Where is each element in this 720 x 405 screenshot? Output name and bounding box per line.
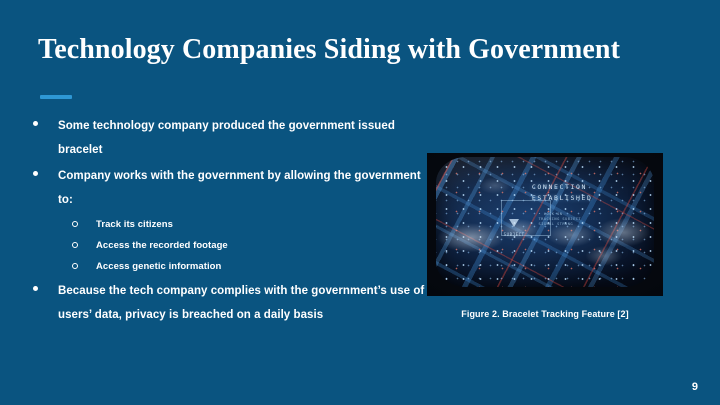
figure-caption: Figure 2. Bracelet Tracking Feature [2] xyxy=(427,308,663,321)
bullet-disc-icon xyxy=(33,121,38,126)
list-item: Access the recorded footage xyxy=(30,235,430,256)
hud-location-pin-icon xyxy=(509,219,519,227)
list-item: Track its citizens xyxy=(30,214,430,235)
list-item-text: Company works with the government by all… xyxy=(58,164,430,212)
figure-image: SUBJECT CONNECTION ESTABLISHED • LOCK ON… xyxy=(427,153,663,296)
bullet-list: Some technology company produced the gov… xyxy=(30,114,430,329)
page-title: Technology Companies Siding with Governm… xyxy=(38,33,678,67)
list-item-text: Access the recorded footage xyxy=(96,235,430,256)
bullet-circle-icon xyxy=(72,242,78,248)
photo-frame: SUBJECT CONNECTION ESTABLISHED • LOCK ON… xyxy=(427,153,663,296)
bullet-disc-icon xyxy=(33,171,38,176)
list-item: Some technology company produced the gov… xyxy=(30,114,430,162)
list-item: Company works with the government by all… xyxy=(30,164,430,212)
list-item: Access genetic information xyxy=(30,256,430,277)
hud-connection-label: CONNECTION ESTABLISHED xyxy=(532,182,593,204)
title-accent-rule xyxy=(40,95,72,99)
bullet-circle-icon xyxy=(72,221,78,227)
hud-readout-line3: SIGNAL STRONG xyxy=(538,222,581,227)
list-item-text: Because the tech company complies with t… xyxy=(58,279,430,327)
list-item-text: Some technology company produced the gov… xyxy=(58,114,430,162)
hud-readout-line2: TRACKING SUBJECT xyxy=(538,217,581,222)
slide: Technology Companies Siding with Governm… xyxy=(0,0,720,405)
list-item-text: Track its citizens xyxy=(96,214,430,235)
hud-connection-line1: CONNECTION xyxy=(532,182,593,193)
page-number: 9 xyxy=(692,381,698,393)
list-item-text: Access genetic information xyxy=(96,256,430,277)
hud-tag-label: SUBJECT xyxy=(504,232,525,237)
hud-connection-line2: ESTABLISHED xyxy=(532,193,593,204)
hud-screen: SUBJECT CONNECTION ESTABLISHED • LOCK ON… xyxy=(436,157,654,287)
sub-bullet-list: Track its citizens Access the recorded f… xyxy=(30,214,430,277)
bullet-circle-icon xyxy=(72,263,78,269)
hud-readout: • LOCK ON TRACKING SUBJECT SIGNAL STRONG xyxy=(538,212,581,227)
bullet-disc-icon xyxy=(33,286,38,291)
list-item: Because the tech company complies with t… xyxy=(30,279,430,327)
